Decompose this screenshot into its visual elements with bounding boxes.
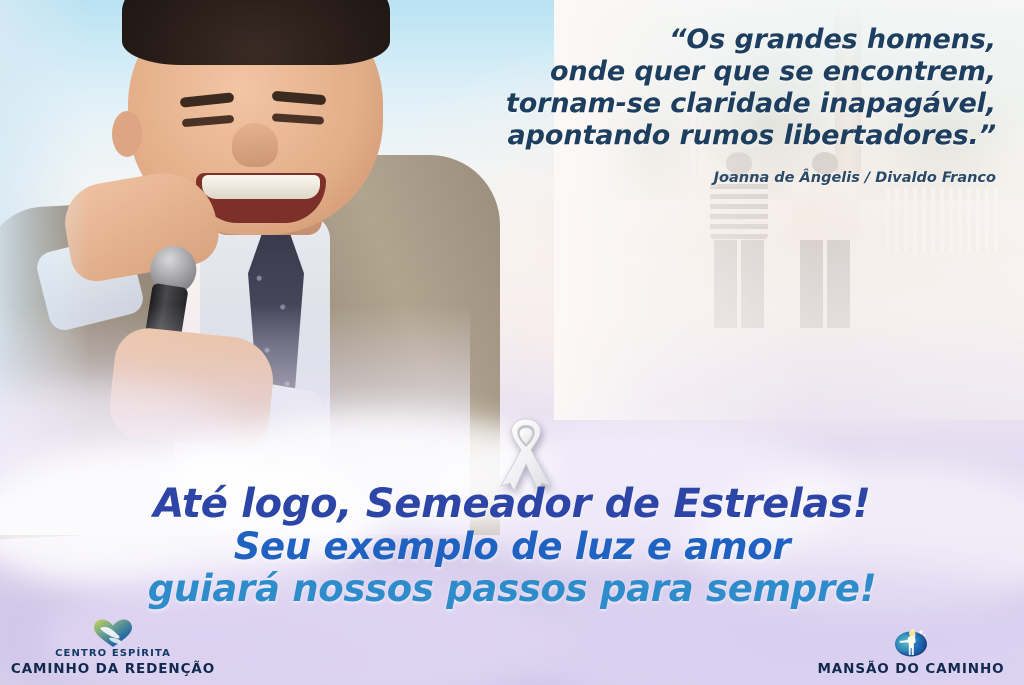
logo-left-line-2: CAMINHO DA REDENÇÃO (8, 661, 218, 677)
portrait-nose (232, 123, 278, 167)
logo-mansao-do-caminho: MANSÃO DO CAMINHO (804, 627, 1018, 677)
headline-line-1: Até logo, Semeador de Estrelas! (0, 484, 1024, 524)
quote-text: “Os grandes homens, onde quer que se enc… (416, 24, 996, 152)
globe-figure-icon (804, 627, 1018, 657)
quote-attribution: Joanna de Ângelis / Divaldo Franco (416, 170, 996, 186)
portrait-photo (0, 0, 470, 535)
portrait-hair (122, 0, 390, 65)
heart-hands-icon (8, 618, 218, 648)
portrait-teeth (202, 175, 320, 199)
quote-line-1: “Os grandes homens, (416, 24, 996, 56)
headline-block: Até logo, Semeador de Estrelas! Seu exem… (0, 484, 1024, 610)
headline-line-2: Seu exemplo de luz e amor (0, 526, 1024, 567)
memorial-poster: “Os grandes homens, onde quer que se enc… (0, 0, 1024, 685)
quote-line-3: tornam-se claridade inapagável, (416, 88, 996, 120)
mourning-ribbon-icon (487, 412, 565, 492)
logo-centro-espirita: CENTRO ESPÍRITA CAMINHO DA REDENÇÃO (8, 618, 218, 677)
quote-line-4: apontando rumos libertadores.” (416, 120, 996, 152)
quote-line-2: onde quer que se encontrem, (416, 56, 996, 88)
portrait-ear (112, 111, 142, 157)
logo-right-line-1: MANSÃO DO CAMINHO (804, 661, 1018, 677)
headline-line-3: guiará nossos passos para sempre! (0, 568, 1024, 609)
logo-left-line-1: CENTRO ESPÍRITA (8, 648, 218, 661)
